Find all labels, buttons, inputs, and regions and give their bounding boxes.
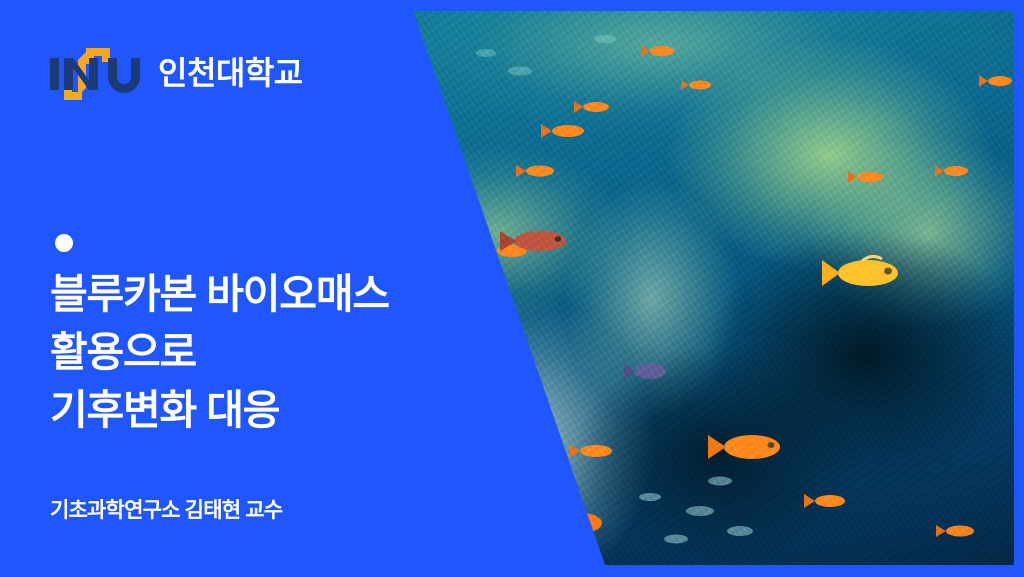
bullet-dot (55, 234, 73, 252)
hero-coral-reef-image (400, 11, 1014, 565)
presentation-slide: 인천대학교 (0, 0, 1024, 577)
slide-title: 블루카본 바이오매스 활용으로 기후변화 대응 (50, 265, 470, 440)
reef-vignette-overlay (400, 11, 1014, 565)
university-logo-lockup: 인천대학교 (48, 46, 303, 102)
presenter-subtitle: 기초과학연구소 김태현 교수 (50, 498, 282, 523)
inu-logo-icon (48, 46, 144, 102)
university-wordmark: 인천대학교 (158, 57, 303, 91)
